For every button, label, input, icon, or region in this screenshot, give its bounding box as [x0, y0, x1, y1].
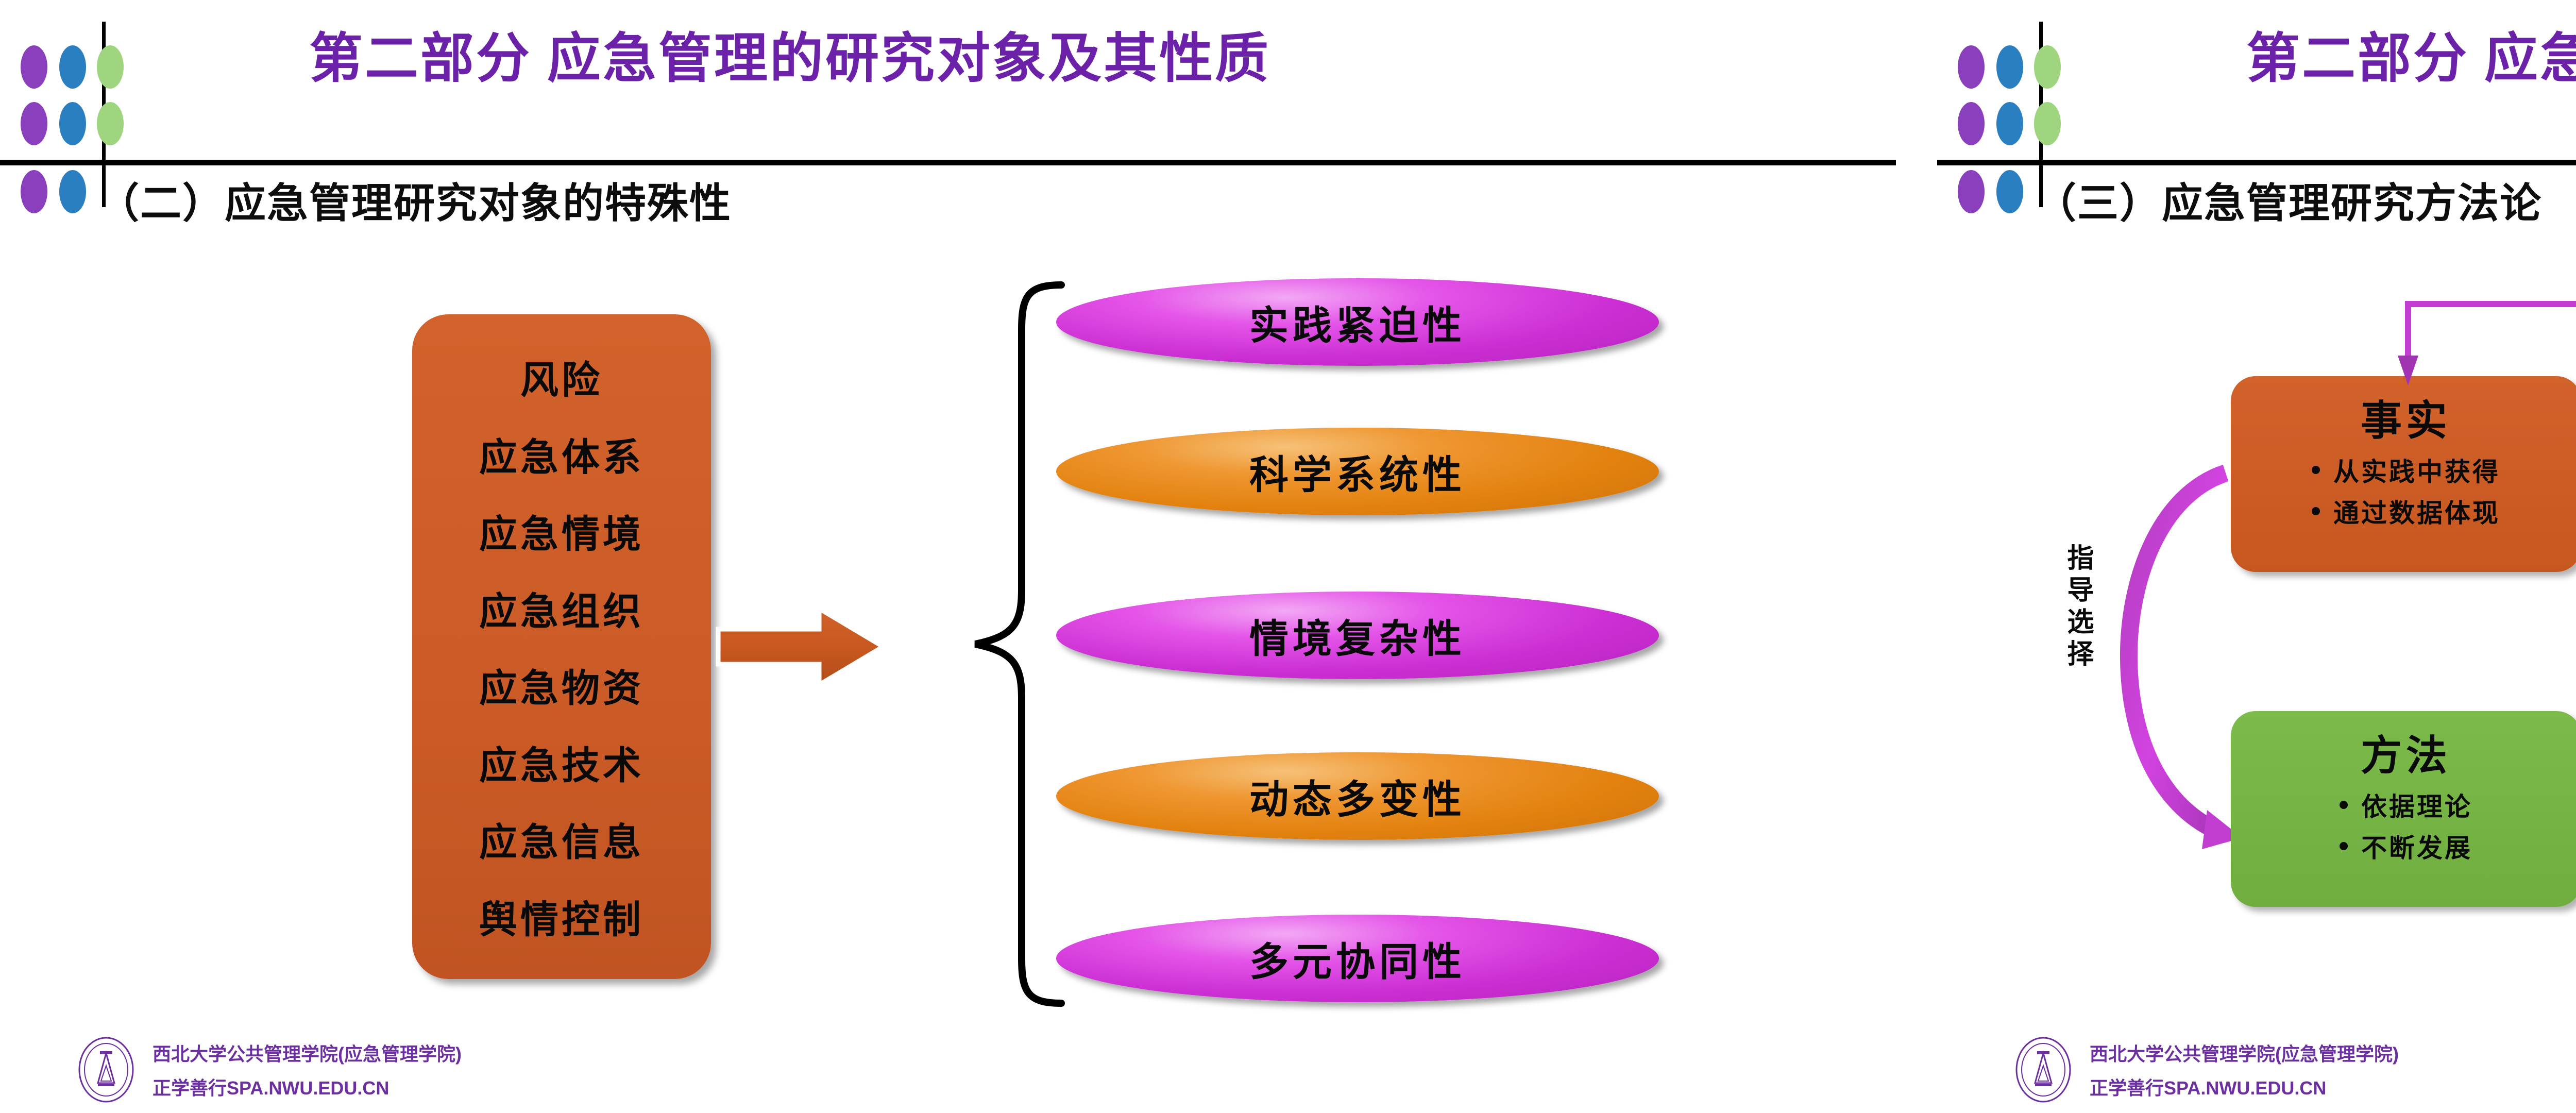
footer-left: 西北大学公共管理学院(应急管理学院) 正学善行SPA.NWU.EDU.CN: [77, 1036, 462, 1104]
purple-dot: [1958, 170, 1985, 213]
slide-canvas: 第二部分 应急管理的研究对象及其性质 （二）应急管理研究对象的特殊性 风险 应急…: [0, 0, 2576, 1113]
node-fact-bullets: 从实践中获得 通过数据体现: [2312, 451, 2500, 530]
slide-left: 第二部分 应急管理的研究对象及其性质 （二）应急管理研究对象的特殊性 风险 应急…: [0, 0, 1937, 1113]
page-title-right: 第二部分 应急管理研究方法论: [2246, 14, 2576, 92]
feedback-arrow-icon: [2396, 294, 2576, 397]
bullet-item: 通过数据体现: [2312, 493, 2500, 530]
purple-dot: [21, 170, 47, 213]
header-divider-right: [1937, 160, 2576, 165]
footer-motto-url[interactable]: 正学善行SPA.NWU.EDU.CN: [152, 1073, 462, 1100]
nwu-spa-seal-logo: [77, 1036, 135, 1104]
header-divider-left: [0, 160, 1896, 165]
characteristics-list: 实践紧迫性 科学系统性 情境复杂性 动态多变性 多元协同性: [1056, 278, 1674, 1010]
purple-dot: [1958, 45, 1985, 89]
bullet-text: 从实践中获得: [2333, 451, 2500, 488]
section-subtitle-right: （三）应急管理研究方法论: [2035, 170, 2542, 230]
bullet-text: 通过数据体现: [2333, 493, 2500, 530]
blue-dot: [1996, 45, 2023, 89]
right-arrow-icon: [716, 600, 886, 693]
characteristic-label: 情境复杂性: [1249, 607, 1466, 664]
node-fact[interactable]: 事实 从实践中获得 通过数据体现: [2231, 376, 2576, 572]
research-objects-box[interactable]: 风险 应急体系 应急情境 应急组织 应急物资 应急技术 应急信息 舆情控制: [412, 314, 711, 979]
blue-dot: [1996, 170, 2023, 213]
purple-dot: [1958, 102, 1985, 145]
characteristic-label: 动态多变性: [1249, 768, 1466, 824]
node-method-title: 方法: [2361, 722, 2451, 782]
section-subtitle-left: （二）应急管理研究对象的特殊性: [98, 170, 732, 230]
node-method-bullets: 依据理论 不断发展: [2340, 786, 2472, 865]
characteristic-label: 科学系统性: [1249, 443, 1466, 500]
characteristic-ellipse[interactable]: 情境复杂性: [1056, 592, 1659, 679]
object-item: 舆情控制: [479, 889, 644, 944]
footer-right: 西北大学公共管理学院(应急管理学院) 正学善行SPA.NWU.EDU.CN: [2014, 1036, 2399, 1104]
blue-dot: [59, 102, 86, 145]
object-item: 应急体系: [479, 427, 644, 482]
footer-text: 西北大学公共管理学院(应急管理学院) 正学善行SPA.NWU.EDU.CN: [152, 1039, 462, 1100]
bullet-dot-icon: [2340, 801, 2348, 809]
characteristic-ellipse[interactable]: 实践紧迫性: [1056, 278, 1659, 366]
label-guide-select: 指导选择: [2058, 544, 2097, 671]
footer-institution: 西北大学公共管理学院(应急管理学院): [152, 1039, 462, 1066]
object-item: 应急物资: [479, 657, 644, 713]
object-item: 风险: [520, 349, 603, 404]
purple-dot: [21, 45, 47, 89]
object-item: 应急情境: [479, 503, 644, 559]
object-item: 应急信息: [479, 812, 644, 867]
right-curly-brace-icon: [966, 281, 1064, 1007]
object-item: 应急技术: [479, 735, 644, 790]
page-title-left: 第二部分 应急管理的研究对象及其性质: [309, 14, 1270, 92]
bullet-text: 依据理论: [2361, 786, 2472, 823]
bullet-dot-icon: [2312, 466, 2320, 474]
bullet-dot-icon: [2312, 507, 2320, 515]
characteristic-label: 实践紧迫性: [1249, 294, 1466, 350]
bullet-item: 从实践中获得: [2312, 451, 2500, 488]
green-dot: [97, 102, 124, 145]
bullet-dot-icon: [2340, 842, 2348, 850]
footer-institution: 西北大学公共管理学院(应急管理学院): [2090, 1039, 2399, 1066]
footer-text: 西北大学公共管理学院(应急管理学院) 正学善行SPA.NWU.EDU.CN: [2090, 1039, 2399, 1100]
green-dot: [2034, 45, 2061, 89]
bullet-text: 不断发展: [2361, 828, 2472, 865]
bullet-item: 不断发展: [2340, 828, 2472, 865]
bullet-item: 依据理论: [2340, 786, 2472, 823]
characteristic-ellipse[interactable]: 多元协同性: [1056, 915, 1659, 1002]
object-item: 应急组织: [479, 581, 644, 636]
nwu-spa-seal-logo: [2014, 1036, 2072, 1104]
green-dot: [2034, 102, 2061, 145]
blue-dot: [59, 45, 86, 89]
blue-dot: [59, 170, 86, 213]
purple-dot: [21, 102, 47, 145]
node-method[interactable]: 方法 依据理论 不断发展: [2231, 711, 2576, 907]
characteristic-label: 多元协同性: [1249, 930, 1466, 987]
green-dot: [97, 45, 124, 89]
blue-dot: [1996, 102, 2023, 145]
characteristic-ellipse[interactable]: 动态多变性: [1056, 752, 1659, 840]
characteristic-ellipse[interactable]: 科学系统性: [1056, 428, 1659, 515]
footer-motto-url[interactable]: 正学善行SPA.NWU.EDU.CN: [2090, 1073, 2399, 1100]
